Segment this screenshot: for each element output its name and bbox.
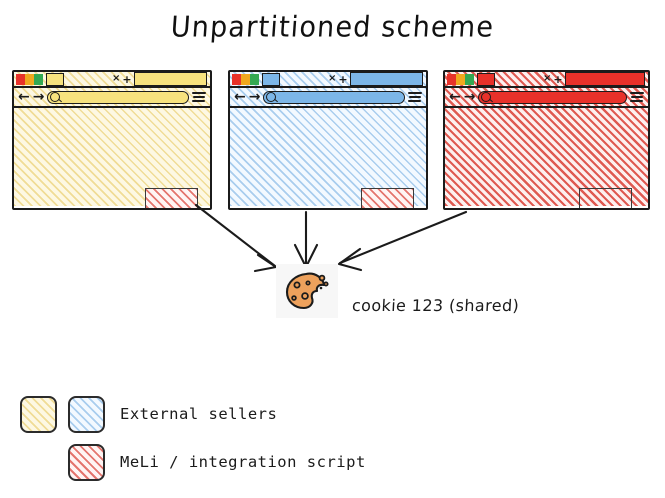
legend-label-external-sellers: External sellers — [120, 405, 277, 423]
browser-window-blue[interactable]: × + ← → — [228, 70, 428, 210]
new-tab-icon[interactable]: + — [122, 74, 131, 85]
page-content — [445, 108, 648, 206]
tab-bar: × + — [445, 72, 648, 88]
cookie-node — [276, 264, 338, 318]
tab-strip[interactable] — [134, 72, 207, 86]
forward-arrow-icon[interactable]: → — [33, 90, 45, 104]
tab-close-icon[interactable]: × — [543, 74, 551, 84]
page-content — [14, 108, 210, 206]
browser-toolbar: ← → — [230, 88, 426, 108]
cookie-label: cookie 123 (shared) — [352, 296, 520, 315]
tab-bar-gap — [495, 71, 541, 87]
minimize-dot-icon[interactable] — [25, 74, 34, 85]
minimize-dot-icon[interactable] — [241, 74, 250, 85]
close-dot-icon[interactable] — [447, 74, 456, 85]
minimize-dot-icon[interactable] — [456, 74, 465, 85]
browser-tab[interactable] — [262, 73, 280, 86]
window-controls[interactable] — [16, 74, 43, 85]
page-title: Unpartitioned scheme — [0, 11, 665, 44]
tab-bar: × + — [14, 72, 210, 88]
forward-arrow-icon[interactable]: → — [464, 90, 476, 104]
tab-close-icon[interactable]: × — [328, 74, 336, 84]
cookie-icon — [284, 269, 330, 313]
address-bar[interactable] — [47, 91, 189, 104]
back-arrow-icon[interactable]: ← — [449, 90, 461, 104]
hamburger-menu-icon[interactable] — [630, 92, 644, 102]
page-content — [230, 108, 426, 206]
legend-label-meli-integration-script: MeLi / integration script — [120, 453, 366, 471]
tab-strip[interactable] — [350, 72, 423, 86]
tab-strip[interactable] — [565, 72, 645, 86]
search-icon — [266, 92, 276, 102]
arrow-red-to-cookie — [340, 212, 466, 263]
browser-window-yellow[interactable]: × + ← → — [12, 70, 212, 210]
browser-tab[interactable] — [46, 73, 64, 86]
new-tab-icon[interactable]: + — [553, 74, 562, 85]
integration-script-iframe — [579, 188, 632, 210]
search-icon — [50, 92, 60, 102]
browser-toolbar: ← → — [445, 88, 648, 108]
window-controls[interactable] — [447, 74, 474, 85]
back-arrow-icon[interactable]: ← — [234, 90, 246, 104]
tab-bar: × + — [230, 72, 426, 88]
hamburger-menu-icon[interactable] — [408, 92, 422, 102]
diagram-canvas: Unpartitioned scheme × + ← → — [0, 0, 665, 498]
close-dot-icon[interactable] — [232, 74, 241, 85]
tab-bar-gap — [64, 71, 110, 87]
tab-bar-gap — [280, 71, 326, 87]
back-arrow-icon[interactable]: ← — [18, 90, 30, 104]
search-icon — [481, 92, 491, 102]
browser-toolbar: ← → — [14, 88, 210, 108]
tab-close-icon[interactable]: × — [112, 74, 120, 84]
maximize-dot-icon[interactable] — [250, 74, 259, 85]
browser-window-red[interactable]: × + ← → — [443, 70, 650, 210]
address-bar[interactable] — [263, 91, 405, 104]
maximize-dot-icon[interactable] — [465, 74, 474, 85]
hamburger-menu-icon[interactable] — [192, 92, 206, 102]
integration-script-iframe — [145, 188, 198, 210]
integration-script-iframe — [361, 188, 414, 210]
arrow-yellow-to-cookie — [196, 205, 275, 266]
window-controls[interactable] — [232, 74, 259, 85]
legend-swatch-yellow — [20, 396, 57, 433]
legend-swatch-red — [68, 444, 105, 481]
legend-swatch-blue — [68, 396, 105, 433]
new-tab-icon[interactable]: + — [338, 74, 347, 85]
forward-arrow-icon[interactable]: → — [249, 90, 261, 104]
address-bar[interactable] — [478, 91, 627, 104]
close-dot-icon[interactable] — [16, 74, 25, 85]
browser-tab[interactable] — [477, 73, 495, 86]
maximize-dot-icon[interactable] — [34, 74, 43, 85]
